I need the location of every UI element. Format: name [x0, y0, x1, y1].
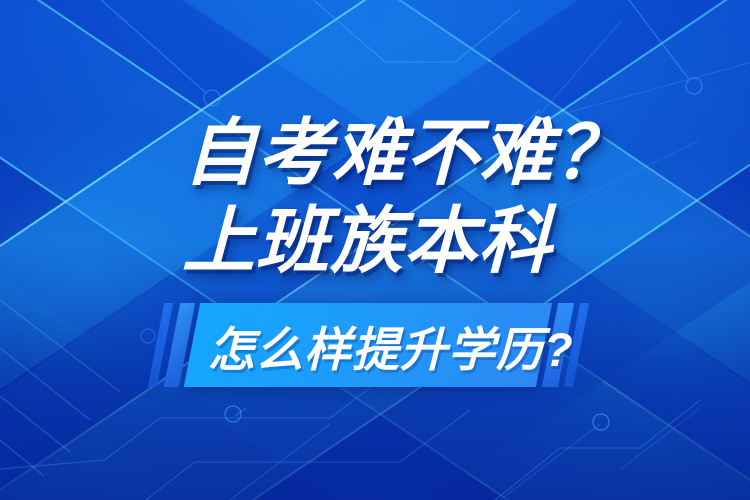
headline-line-1: 自考难不难？: [183, 110, 605, 198]
promo-banner: 自考难不难？ 上班族本科 怎么样提升学历?: [0, 0, 750, 500]
headline-line-2: 上班族本科: [181, 198, 603, 286]
subtitle-ribbon: 怎么样提升学历?: [150, 303, 600, 387]
banner-content: 自考难不难？ 上班族本科 怎么样提升学历?: [0, 0, 750, 500]
subtitle-text: 怎么样提升学历?: [208, 303, 574, 387]
headline: 自考难不难？ 上班族本科: [181, 110, 604, 286]
